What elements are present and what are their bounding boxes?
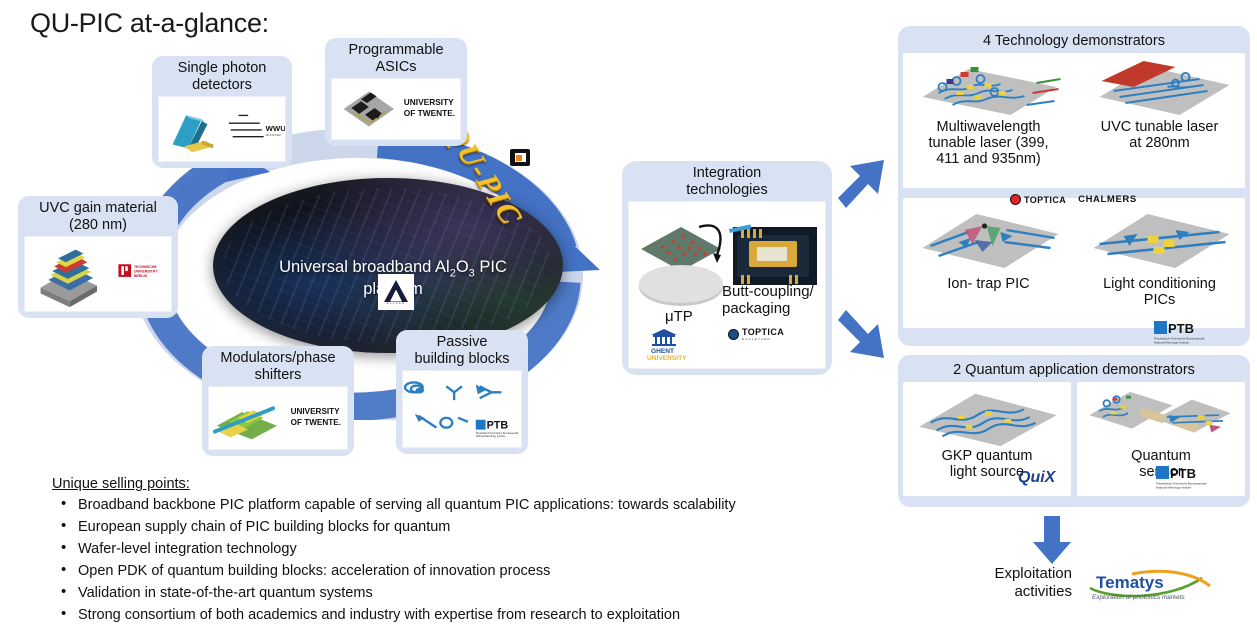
card-title-single-photon-detectors: Single photon detectors <box>178 60 267 93</box>
art-gkp-light-source <box>905 386 1069 448</box>
svg-text:National Metrology Institute: National Metrology Institute <box>476 435 506 438</box>
demo-label-uvc-tunable-laser: UVC tunable laser at 280nm <box>1101 119 1219 151</box>
caption-text-o: O <box>456 258 469 276</box>
quantum-sensor-pic-icon <box>1079 386 1243 448</box>
card-uvc-gain-material[interactable]: UVC gain material (280 nm) TECHNISCHE UN… <box>18 196 178 318</box>
light-conditioning-pic-icon <box>1076 202 1243 276</box>
toptica-logo-text: TOPTICAEAGLEYARD <box>742 327 784 341</box>
tech-demo-row-1: Multiwavelength tunable laser (399, 411 … <box>903 53 1245 188</box>
svg-text:UNIVERSITY: UNIVERSITY <box>647 355 687 362</box>
panel-quantum-demonstrators[interactable]: 2 Quantum application demonstrators <box>898 355 1250 507</box>
page-title: QU-PIC at-a-glance: <box>30 8 269 39</box>
card-title-integration-technologies: Integration technologies <box>686 165 767 198</box>
ptb-logo-icon-2: PTB Physikalisch-Technische Bundesanstal… <box>1156 465 1222 491</box>
epitaxial-stack-illustration-icon: TECHNISCHE UNIVERSITÄT BERLIN <box>25 237 171 311</box>
modulator-illustration-icon: UNIVERSITY OF TWENTE. <box>209 387 347 449</box>
panel-title-quantum-demonstrators: 2 Quantum application demonstrators <box>903 360 1245 382</box>
svg-text:OF TWENTE.: OF TWENTE. <box>291 418 341 427</box>
passive-components-illustration-icon: PTB Physikalisch-Technische Bundesanstal… <box>403 371 521 447</box>
art-uvc-tunable-laser <box>1076 57 1243 119</box>
svg-text:TECHNISCHE: TECHNISCHE <box>134 265 157 269</box>
card-title-modulators-phase-shifters: Modulators/phase shifters <box>220 350 335 383</box>
svg-text:UNIVERSITÄT: UNIVERSITÄT <box>134 270 158 274</box>
wwu-logo-text: WWU <box>266 124 285 133</box>
card-title-uvc-gain-material: UVC gain material (280 nm) <box>39 200 157 233</box>
usp-item-6: Strong consortium of both academics and … <box>52 604 882 626</box>
usp-item-3: Wafer-level integration technology <box>52 538 882 560</box>
svg-text:PTB: PTB <box>1170 466 1196 481</box>
usp-item-5: Validation in state-of-the-art quantum s… <box>52 582 882 604</box>
usp-item-1: Broadband backbone PIC platform capable … <box>52 494 882 516</box>
caption-text-a: Universal broadband Al <box>279 258 450 276</box>
alluxa-triangle-icon <box>384 280 408 302</box>
detector-illustration-icon: WWU MÜNSTER <box>159 97 285 161</box>
usp-item-2: European supply chain of PIC building bl… <box>52 516 882 538</box>
exploitation-label: Exploitation activities <box>960 565 1072 600</box>
integration-item-label-butt-coupling: Butt-coupling/ packaging <box>722 284 832 317</box>
unique-selling-points: Unique selling points: Broadband backbon… <box>52 476 882 626</box>
photo-programmable-asics: UNIVERSITY OF TWENTE. <box>331 78 461 140</box>
svg-text:PTB: PTB <box>1168 321 1194 336</box>
svg-text:MÜNSTER: MÜNSTER <box>266 133 282 137</box>
tematys-tagline: Exploration of photonics markets <box>1092 594 1186 601</box>
asic-chip-illustration-icon: UNIVERSITY OF TWENTE. <box>332 79 460 139</box>
open-pdk-logo-icon <box>510 149 530 166</box>
tematys-logo-icon: Tematys Exploration of photonics markets <box>1084 566 1216 606</box>
toptica-logo-integration: TOPTICAEAGLEYARD <box>728 327 784 341</box>
quix-logo-text: QuiX <box>1018 469 1055 486</box>
caption-text-pic: PIC <box>475 258 507 276</box>
ptb-logo-techdemo: PTB Physikalisch-Technische Bundesanstal… <box>1154 320 1220 351</box>
ptb-logo-icon: PTB Physikalisch-Technische Bundesanstal… <box>1154 320 1220 346</box>
open-pdk-label: Open PDK <box>485 128 557 145</box>
multiwavelength-pic-icon <box>905 57 1072 119</box>
ion-trap-pic-icon <box>905 202 1072 276</box>
demo-label-light-conditioning-pics: Light conditioning PICs <box>1103 276 1216 308</box>
card-title-programmable-asics: Programmable ASICs <box>348 42 443 75</box>
demo-label-multiwavelength-laser: Multiwavelength tunable laser (399, 411 … <box>928 119 1048 168</box>
card-programmable-asics[interactable]: Programmable ASICs UNIVERSITY OF TWENTE. <box>325 38 467 146</box>
demo-label-ion-trap-pic: Ion- trap PIC <box>947 276 1029 292</box>
svg-text:PTB: PTB <box>487 420 509 432</box>
art-ion-trap-pic <box>905 202 1072 276</box>
arrow-to-technology-demonstrators <box>834 150 898 220</box>
twente-logo-line1: UNIVERSITY <box>404 97 454 107</box>
arrow-to-quantum-demonstrators <box>834 300 898 370</box>
alluxa-logo: ALLUXA <box>378 274 414 310</box>
photo-uvc-gain-material: TECHNISCHE UNIVERSITÄT BERLIN <box>24 236 172 312</box>
photo-single-photon-detectors: WWU MÜNSTER <box>158 96 286 162</box>
alluxa-mark-icon: ALLUXA <box>379 275 413 309</box>
utp-label: μTP <box>665 308 693 325</box>
card-single-photon-detectors[interactable]: Single photon detectors WWU MÜNSTER <box>152 56 292 168</box>
demo-cell-multiwavelength-laser[interactable]: Multiwavelength tunable laser (399, 411 … <box>903 53 1074 188</box>
art-multiwavelength-laser <box>905 57 1072 119</box>
card-passive-building-blocks[interactable]: Passive building blocks PTB Physikalisch… <box>396 330 528 454</box>
demo-cell-uvc-tunable-laser[interactable]: UVC tunable laser at 280nm <box>1074 53 1245 188</box>
quix-logo: QuiX <box>1018 470 1055 486</box>
svg-text:GHENT: GHENT <box>651 348 674 355</box>
art-light-conditioning-pics <box>1076 202 1243 276</box>
svg-text:National Metrology Institute: National Metrology Institute <box>1154 341 1189 345</box>
uvc-laser-pic-icon <box>1076 57 1243 119</box>
card-title-passive-building-blocks: Passive building blocks <box>414 334 509 367</box>
panel-technology-demonstrators[interactable]: 4 Technology demonstrators <box>898 26 1250 346</box>
svg-text:National Metrology Institute: National Metrology Institute <box>1156 486 1191 490</box>
arrow-to-exploitation <box>1033 516 1071 564</box>
usp-list: Broadband backbone PIC platform capable … <box>52 494 882 626</box>
usp-item-4: Open PDK of quantum building blocks: acc… <box>52 560 882 582</box>
ptb-logo-quantum: PTB Physikalisch-Technische Bundesanstal… <box>1156 465 1222 496</box>
photo-modulators-phase-shifters: UNIVERSITY OF TWENTE. <box>208 386 348 450</box>
panel-title-technology-demonstrators: 4 Technology demonstrators <box>903 31 1245 53</box>
gkp-pic-icon <box>905 386 1069 448</box>
svg-text:UNIVERSITY: UNIVERSITY <box>291 407 341 416</box>
art-quantum-sensor <box>1079 386 1243 448</box>
demo-cell-ion-trap-pic[interactable]: Ion- trap PIC <box>903 198 1074 328</box>
tematys-wordmark: Tematys <box>1096 573 1164 592</box>
toptica-dot-icon <box>728 329 739 340</box>
alluxa-logo-text: ALLUXA <box>387 302 405 305</box>
slide-canvas: QU-PIC at-a-glance: QU-PIC Universal bro… <box>0 0 1257 641</box>
photo-passive-building-blocks: PTB Physikalisch-Technische Bundesanstal… <box>402 370 522 448</box>
svg-text:BERLIN: BERLIN <box>134 274 148 278</box>
tematys-logo: Tematys Exploration of photonics markets <box>1084 566 1216 606</box>
card-modulators-phase-shifters[interactable]: Modulators/phase shifters UNIVERSITY OF … <box>202 346 354 456</box>
twente-logo-line2: OF TWENTE. <box>404 108 455 118</box>
demo-cell-light-conditioning-pics[interactable]: Light conditioning PICs <box>1074 198 1245 328</box>
usp-heading: Unique selling points: <box>52 476 882 492</box>
card-integration-technologies[interactable]: Integration technologies μTP <box>622 161 832 375</box>
tech-demo-row-2: Ion- trap PIC Light <box>903 198 1245 328</box>
